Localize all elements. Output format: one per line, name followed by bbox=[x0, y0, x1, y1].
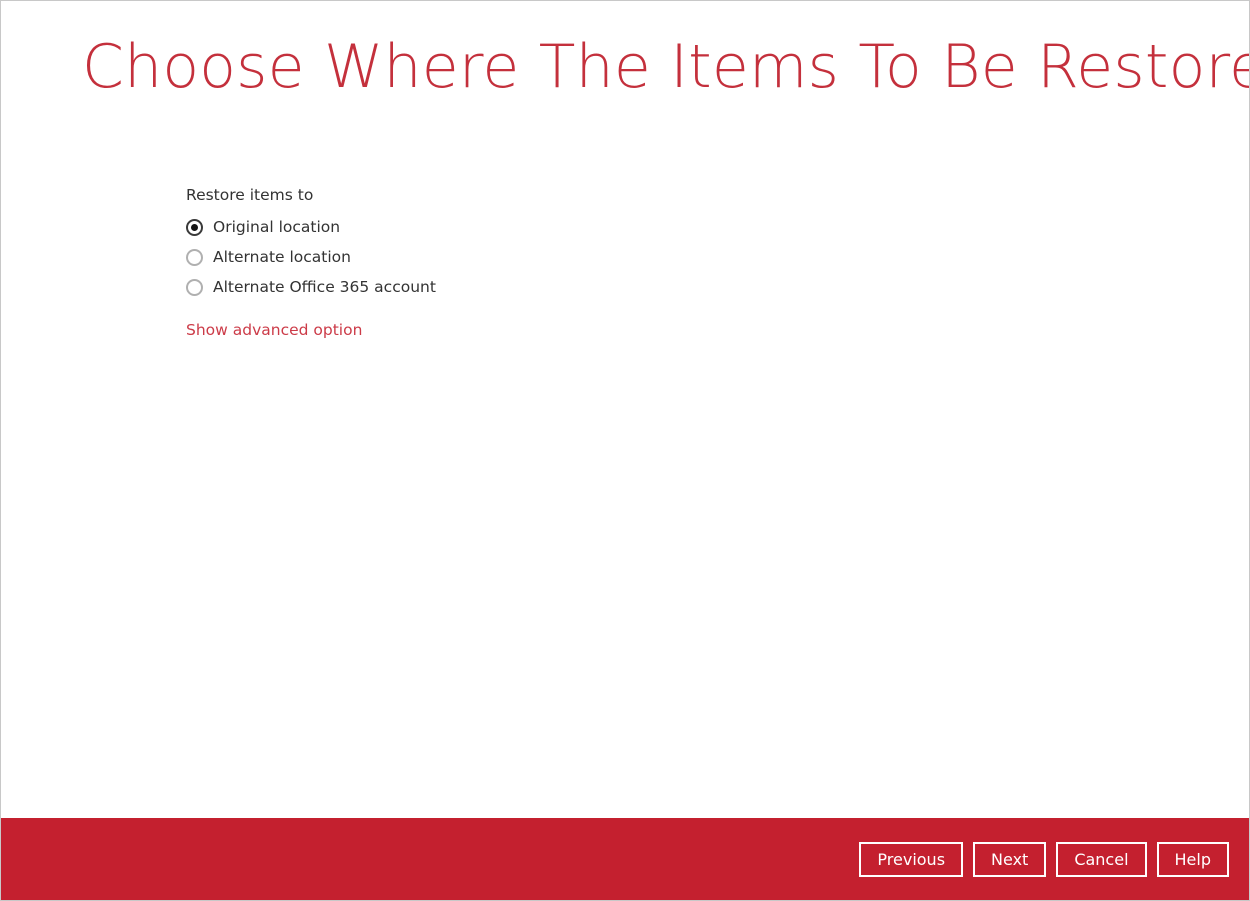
radio-unselected-icon bbox=[186, 279, 203, 296]
next-button[interactable]: Next bbox=[973, 842, 1046, 877]
radio-unselected-icon bbox=[186, 249, 203, 266]
radio-label-original-location: Original location bbox=[213, 217, 340, 237]
radio-option-alternate-location[interactable]: Alternate location bbox=[186, 242, 706, 272]
wizard-content-area: Restore items to Original location Alter… bbox=[1, 129, 1249, 818]
previous-button[interactable]: Previous bbox=[859, 842, 963, 877]
restore-location-radio-group[interactable]: Original location Alternate location Alt… bbox=[186, 212, 706, 302]
radio-selected-icon bbox=[186, 219, 203, 236]
restore-wizard-window: Choose Where The Items To Be Restored Re… bbox=[0, 0, 1250, 901]
radio-label-alternate-location: Alternate location bbox=[213, 247, 351, 267]
cancel-button[interactable]: Cancel bbox=[1056, 842, 1146, 877]
show-advanced-option-link[interactable]: Show advanced option bbox=[186, 320, 362, 340]
wizard-footer: Previous Next Cancel Help bbox=[1, 818, 1249, 900]
page-title: Choose Where The Items To Be Restored bbox=[82, 31, 1179, 103]
radio-option-original-location[interactable]: Original location bbox=[186, 212, 706, 242]
restore-items-to-label: Restore items to bbox=[186, 185, 706, 205]
wizard-header: Choose Where The Items To Be Restored bbox=[1, 1, 1249, 129]
help-button[interactable]: Help bbox=[1157, 842, 1229, 877]
footer-button-bar: Previous Next Cancel Help bbox=[859, 842, 1229, 877]
radio-option-alternate-office365-account[interactable]: Alternate Office 365 account bbox=[186, 272, 706, 302]
radio-label-alternate-office365-account: Alternate Office 365 account bbox=[213, 277, 436, 297]
restore-location-group: Restore items to Original location Alter… bbox=[186, 185, 706, 340]
